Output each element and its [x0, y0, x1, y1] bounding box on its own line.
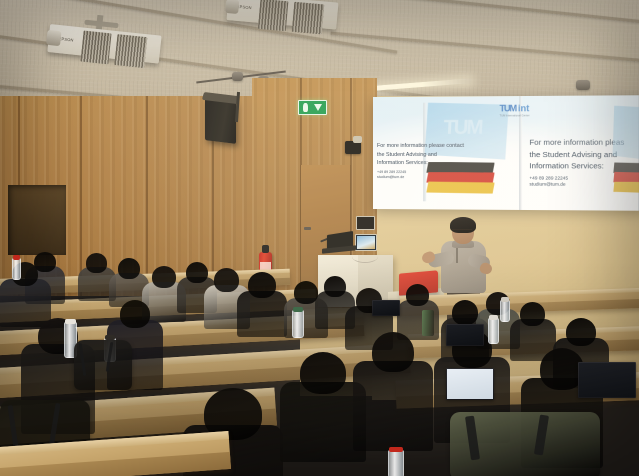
- person-head: [186, 262, 208, 283]
- tum-logo-subtitle: TUM International Center: [500, 114, 530, 118]
- slide-line: Information Services:: [377, 159, 464, 168]
- ceiling-spotlight-icon: [232, 72, 243, 81]
- projector-lens: [225, 0, 239, 14]
- backpack-strap: [465, 416, 480, 460]
- bottle-cap: [501, 297, 509, 302]
- monitor-content: [357, 236, 375, 249]
- projector-vent: [80, 31, 111, 65]
- flag-graphic-right: [611, 105, 639, 200]
- slide-email: studium@tum.de: [377, 175, 464, 181]
- exit-sign: [298, 100, 327, 115]
- thermos-flask: [422, 310, 434, 336]
- tum-int-suffix: int: [518, 104, 529, 113]
- lectern-cable: [352, 250, 378, 263]
- laptop-screen: [579, 363, 635, 397]
- backpack-strap: [534, 414, 549, 455]
- person-head: [248, 272, 276, 298]
- wall-niche: [8, 185, 66, 255]
- person-head: [520, 302, 545, 326]
- laptop-screen: [447, 325, 483, 345]
- arrow-down-icon: [314, 104, 322, 111]
- person-torso: [353, 361, 433, 451]
- person-head: [566, 318, 596, 346]
- lectern-preview-monitor: [355, 234, 377, 251]
- flag-tum-wordmark: TUM: [443, 116, 482, 139]
- projector-lens: [46, 30, 61, 46]
- laptop[interactable]: [446, 368, 494, 400]
- laptop[interactable]: [372, 300, 400, 316]
- tum-int-logo: TUM int TUM International Center: [500, 104, 530, 113]
- bottle-cap: [293, 307, 303, 312]
- extinguisher-nozzle: [262, 245, 269, 253]
- wood-panel-seam: [146, 96, 148, 296]
- bottle-cap: [489, 315, 498, 320]
- slide-line: the Student Advising and: [377, 151, 464, 160]
- person-head: [152, 266, 176, 288]
- person-head: [214, 268, 239, 292]
- tum-wordmark: TUM: [500, 104, 516, 113]
- flag-upper-field: [611, 105, 639, 162]
- presenter-glasses: [452, 229, 472, 234]
- backpack-strap: [79, 343, 87, 376]
- slide-line: For more information please contact: [377, 142, 464, 151]
- laptop[interactable]: [578, 362, 636, 398]
- person-head: [118, 258, 140, 279]
- laptop-screen: [447, 369, 493, 399]
- backpack: [74, 340, 132, 390]
- backpack-strap: [105, 342, 113, 372]
- water-bottle: [488, 318, 499, 344]
- ceiling-spotlight-icon: [576, 80, 590, 90]
- lectern-monitor-upper: [356, 216, 375, 230]
- water-bottle: [388, 450, 404, 476]
- lecture-hall-photo: EPSON EPSON: [0, 0, 639, 476]
- laptop[interactable]: [446, 324, 484, 346]
- projector-vent: [292, 2, 325, 35]
- water-bottle: [12, 258, 21, 280]
- person-head: [300, 352, 346, 394]
- bottle-cap: [13, 255, 20, 260]
- projection-screen: TUM TUM int TUM International Center For…: [373, 95, 639, 211]
- slide-text-left: For more information please contact the …: [377, 142, 464, 181]
- person-torso: [0, 279, 51, 327]
- laptop-screen: [373, 301, 399, 315]
- person-head: [34, 252, 56, 272]
- person-head: [406, 284, 429, 306]
- person-head: [294, 281, 318, 304]
- person-head: [324, 276, 346, 297]
- water-bottle: [292, 310, 304, 338]
- camera-lens-icon: [353, 136, 362, 143]
- person-head: [372, 332, 414, 372]
- bottle-cap: [389, 447, 403, 452]
- wall-camera-icon: [345, 141, 361, 154]
- person-head: [452, 300, 478, 325]
- door-handle[interactable]: [304, 227, 311, 230]
- wall-loudspeaker: [205, 98, 236, 144]
- projector-vent: [258, 0, 289, 31]
- water-bottle: [500, 300, 510, 322]
- running-person-icon: [303, 103, 308, 112]
- flag-band-gold: [613, 181, 639, 192]
- flag-band-gold: [426, 182, 494, 194]
- projector-vent: [114, 34, 147, 68]
- bottle-cap: [65, 319, 76, 324]
- person-head: [86, 253, 107, 273]
- person-head: [120, 300, 150, 328]
- wood-panel-seam: [80, 96, 82, 296]
- backpack: [450, 412, 600, 476]
